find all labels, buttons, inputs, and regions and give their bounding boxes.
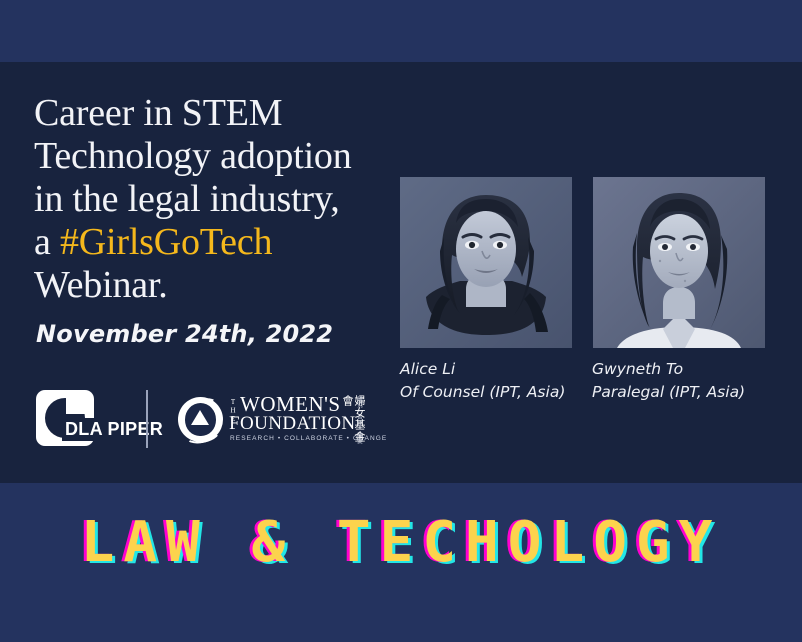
speaker-name: Alice Li	[400, 358, 565, 381]
speaker-caption-gwyneth-to: Gwyneth To Paralegal (IPT, Asia)	[592, 358, 745, 404]
speaker-role: Paralegal (IPT, Asia)	[592, 381, 745, 404]
womens-foundation-foundation: FOUNDATION	[229, 414, 355, 434]
womens-foundation-logo: THE WOMEN'S FOUNDATION RESEARCH • COLLAB…	[178, 392, 366, 446]
logo-row: DLA PIPER THE WOMEN'S FOUNDATION RESEARC…	[36, 388, 366, 450]
logo-divider	[146, 390, 148, 448]
womens-foundation-emblem-icon	[178, 397, 223, 442]
headline-line-4: a #GirlsGoTech	[34, 221, 406, 264]
headline-block: Career in STEM Technology adoption in th…	[34, 92, 406, 307]
banner-strip: LAW & TECHOLOGY	[0, 498, 802, 586]
dla-piper-mark-notch	[66, 396, 90, 414]
speaker-photo-alice-li	[400, 177, 572, 348]
hashtag-girlsgotech: #GirlsGoTech	[60, 221, 272, 263]
speaker-name: Gwyneth To	[592, 358, 745, 381]
speaker-role: Of Counsel (IPT, Asia)	[400, 381, 565, 404]
speaker-photo-gwyneth-to	[593, 177, 765, 348]
headline-line-2: Technology adoption	[34, 135, 406, 178]
webinar-poster: Career in STEM Technology adoption in th…	[0, 0, 802, 642]
headline-line-4-prefix: a	[34, 221, 60, 263]
event-date: November 24th, 2022	[36, 320, 333, 348]
headline-line-3: in the legal industry,	[34, 178, 406, 221]
banner-glitch-text: LAW & TECHOLOGY	[81, 510, 722, 575]
headline-line-1: Career in STEM	[34, 92, 406, 135]
dla-piper-wordmark: DLA PIPER	[62, 418, 165, 441]
headline-line-5: Webinar.	[34, 264, 406, 307]
womens-foundation-chinese-tagline: 研究・合作・改變	[356, 396, 362, 444]
womens-foundation-womens: WOMEN'S	[240, 394, 341, 415]
dla-piper-logo: DLA PIPER	[36, 390, 132, 448]
speaker-caption-alice-li: Alice Li Of Counsel (IPT, Asia)	[400, 358, 565, 404]
